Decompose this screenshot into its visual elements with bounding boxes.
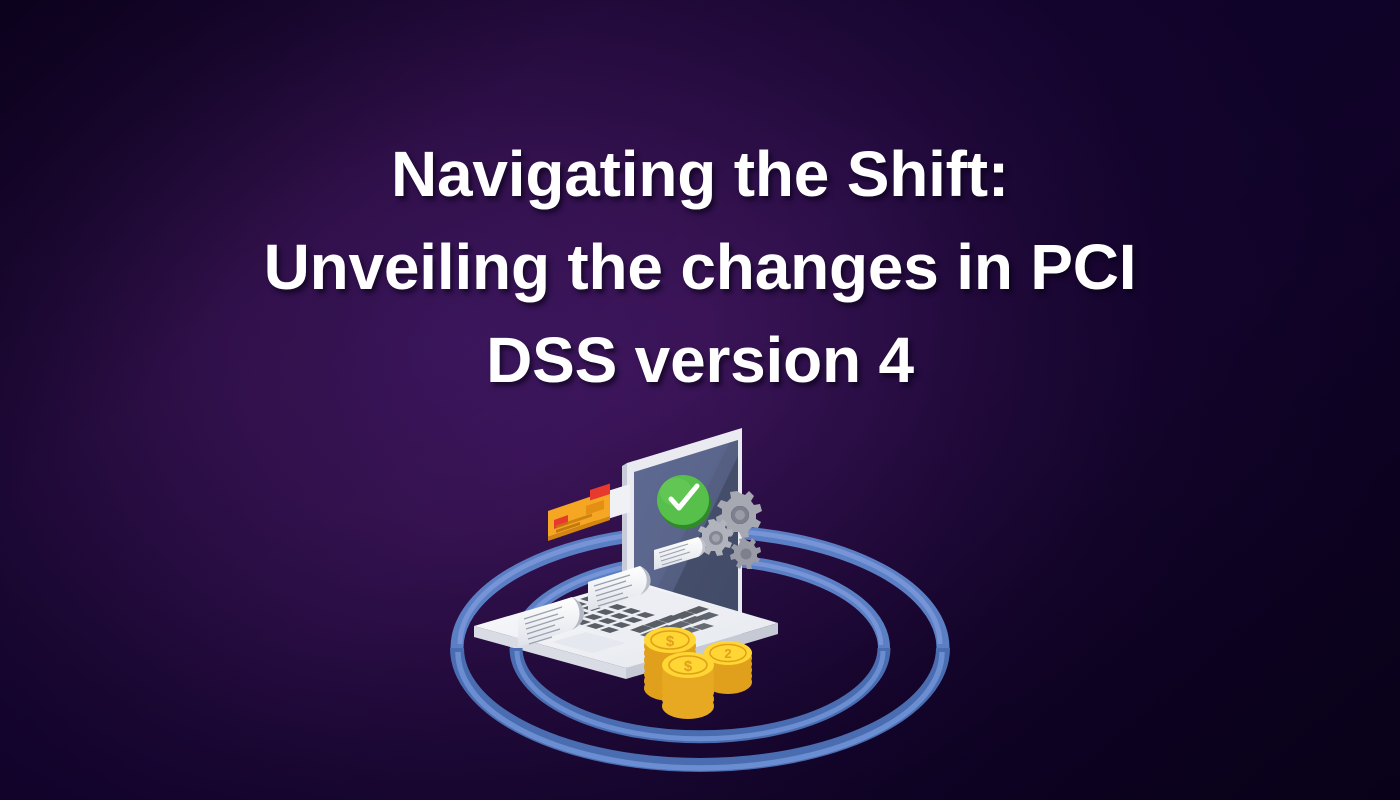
coin-symbol-right: 2 (724, 646, 731, 661)
coin-stack-front: $ (662, 652, 714, 719)
title-line-2: Unveiling the changes in PCI (0, 221, 1400, 314)
coin-symbol-front: $ (684, 658, 693, 675)
coin-symbol-back: $ (666, 633, 675, 650)
hero-banner: Navigating the Shift: Unveiling the chan… (0, 0, 1400, 800)
credit-card (548, 484, 610, 542)
hero-illustration: 2 $ (440, 420, 960, 780)
title-line-3: DSS version 4 (0, 314, 1400, 407)
page-title: Navigating the Shift: Unveiling the chan… (0, 128, 1400, 407)
title-line-1: Navigating the Shift: (0, 128, 1400, 221)
